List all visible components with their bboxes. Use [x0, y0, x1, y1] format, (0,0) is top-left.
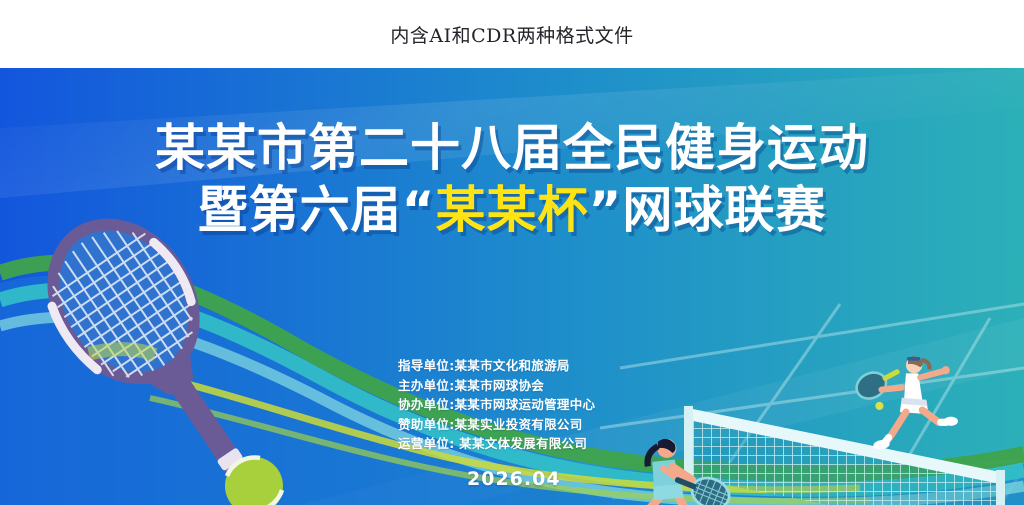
top-caption-text: 内含AI和CDR两种格式文件: [390, 21, 633, 48]
title-highlight: 某某杯: [436, 181, 589, 239]
title-line-2-prefix: 暨第六届: [198, 181, 402, 239]
organizer-line-operator: 运营单位: 某某文体发展有限公司: [398, 434, 595, 454]
banner-title: 某某市第二十八届全民健身运动 暨第六届“某某杯”网球联赛: [0, 123, 1024, 235]
title-quote-close: ”: [589, 181, 623, 239]
organizer-list: 指导单位:某某市文化和旅游局 主办单位:某某市网球协会 协办单位:某某市网球运动…: [398, 356, 595, 454]
organizer-line-cohost: 协办单位:某某市网球运动管理中心: [398, 395, 595, 415]
top-caption: 内含AI和CDR两种格式文件: [0, 0, 1024, 68]
banner-artwork: 某某市第二十八届全民健身运动 暨第六届“某某杯”网球联赛 指导单位:某某市文化和…: [0, 68, 1024, 505]
title-line-2-suffix: 网球联赛: [622, 181, 826, 239]
event-date: 2026.04: [467, 468, 561, 490]
organizer-line-host: 主办单位:某某市网球协会: [398, 376, 595, 396]
player-far-figure: [852, 356, 958, 450]
title-line-2: 暨第六届“某某杯”网球联赛: [0, 185, 1024, 235]
title-quote-open: “: [402, 181, 436, 239]
title-line-1: 某某市第二十八届全民健身运动: [0, 123, 1024, 173]
organizer-line-sponsor: 赞助单位:某某实业投资有限公司: [398, 415, 595, 435]
organizer-line-guidance: 指导单位:某某市文化和旅游局: [398, 356, 595, 376]
banner-page: 内含AI和CDR两种格式文件: [0, 0, 1024, 505]
